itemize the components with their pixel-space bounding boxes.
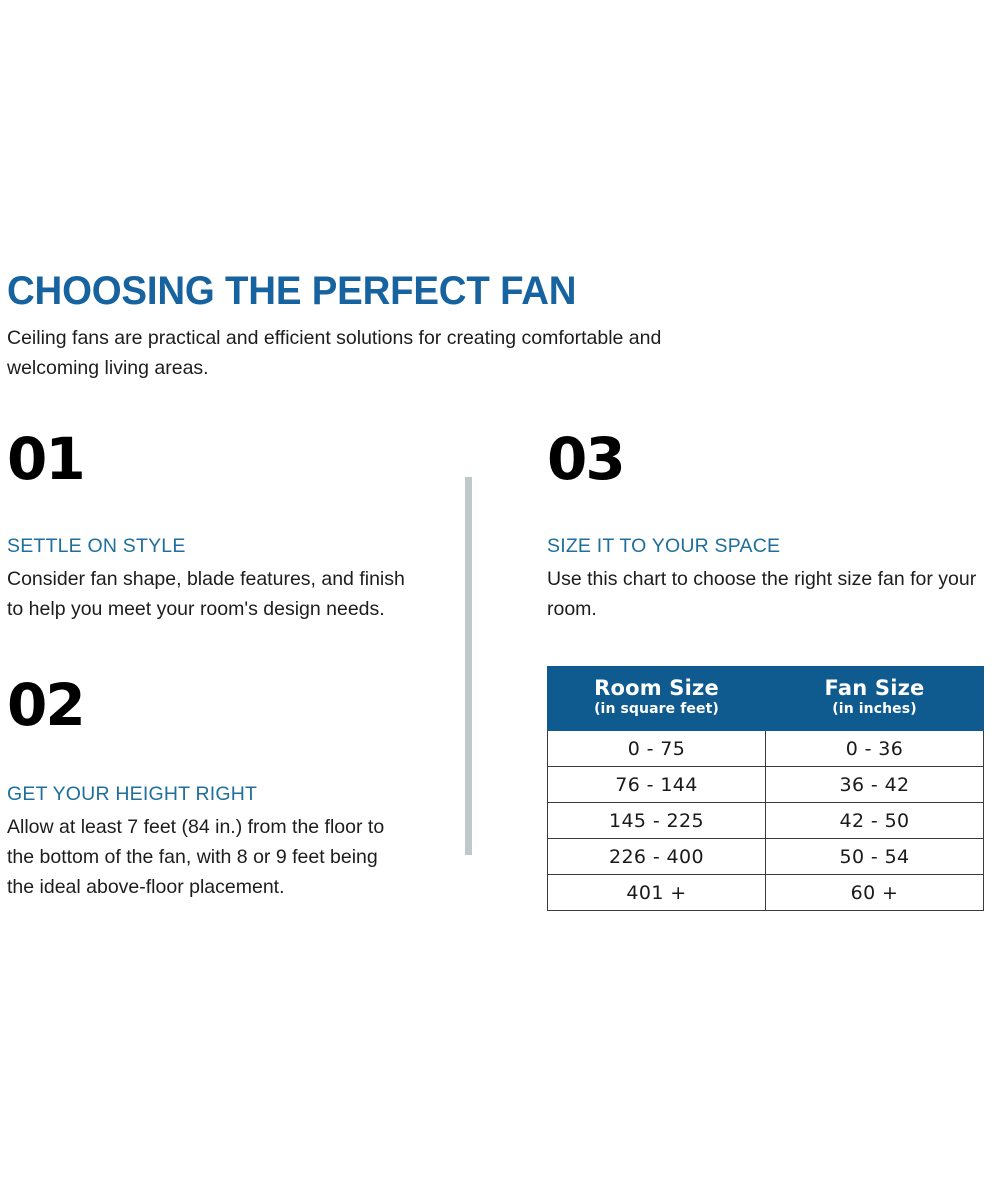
document-page: CHOOSING THE PERFECT FAN Ceiling fans ar… [0, 0, 1000, 1200]
intro-paragraph: Ceiling fans are practical and efficient… [7, 323, 697, 383]
table-row: 0 - 75 0 - 36 [548, 731, 984, 767]
step-02: 02 GET YOUR HEIGHT RIGHT Allow at least … [7, 676, 407, 902]
column-header-fan-size-main: Fan Size [770, 676, 979, 700]
step-body-01: Consider fan shape, blade features, and … [7, 564, 407, 624]
fan-size-chart: Room Size (in square feet) Fan Size (in … [547, 666, 984, 911]
right-column: 03 SIZE IT TO YOUR SPACE Use this chart … [547, 430, 997, 911]
cell-room-size: 145 - 225 [548, 803, 766, 839]
cell-room-size: 401 + [548, 875, 766, 911]
step-heading-03: SIZE IT TO YOUR SPACE [547, 534, 997, 558]
column-header-room-size: Room Size (in square feet) [548, 667, 766, 731]
table-header-row: Room Size (in square feet) Fan Size (in … [548, 667, 984, 731]
column-header-fan-size-sub: (in inches) [770, 700, 979, 719]
table-row: 401 + 60 + [548, 875, 984, 911]
step-01: 01 SETTLE ON STYLE Consider fan shape, b… [7, 430, 407, 624]
column-header-room-size-main: Room Size [552, 676, 761, 700]
step-heading-01: SETTLE ON STYLE [7, 534, 407, 558]
step-number-01: 01 [7, 430, 407, 488]
header-block: CHOOSING THE PERFECT FAN Ceiling fans ar… [7, 268, 707, 383]
column-header-room-size-sub: (in square feet) [552, 700, 761, 719]
table-body: 0 - 75 0 - 36 76 - 144 36 - 42 145 - 225… [548, 731, 984, 911]
step-body-03: Use this chart to choose the right size … [547, 564, 997, 624]
cell-room-size: 226 - 400 [548, 839, 766, 875]
table-header: Room Size (in square feet) Fan Size (in … [548, 667, 984, 731]
table-row: 76 - 144 36 - 42 [548, 767, 984, 803]
cell-fan-size: 0 - 36 [766, 731, 984, 767]
step-body-02: Allow at least 7 feet (84 in.) from the … [7, 812, 407, 902]
table-row: 145 - 225 42 - 50 [548, 803, 984, 839]
column-divider [465, 477, 472, 855]
cell-fan-size: 50 - 54 [766, 839, 984, 875]
cell-fan-size: 60 + [766, 875, 984, 911]
left-column: 01 SETTLE ON STYLE Consider fan shape, b… [7, 430, 407, 902]
cell-fan-size: 42 - 50 [766, 803, 984, 839]
cell-room-size: 76 - 144 [548, 767, 766, 803]
table-row: 226 - 400 50 - 54 [548, 839, 984, 875]
fan-size-table: Room Size (in square feet) Fan Size (in … [547, 666, 984, 911]
step-number-03: 03 [547, 430, 997, 488]
page-title: CHOOSING THE PERFECT FAN [7, 268, 679, 314]
step-03: 03 SIZE IT TO YOUR SPACE Use this chart … [547, 430, 997, 624]
cell-room-size: 0 - 75 [548, 731, 766, 767]
step-heading-02: GET YOUR HEIGHT RIGHT [7, 782, 407, 806]
step-number-02: 02 [7, 676, 407, 734]
cell-fan-size: 36 - 42 [766, 767, 984, 803]
column-header-fan-size: Fan Size (in inches) [766, 667, 984, 731]
